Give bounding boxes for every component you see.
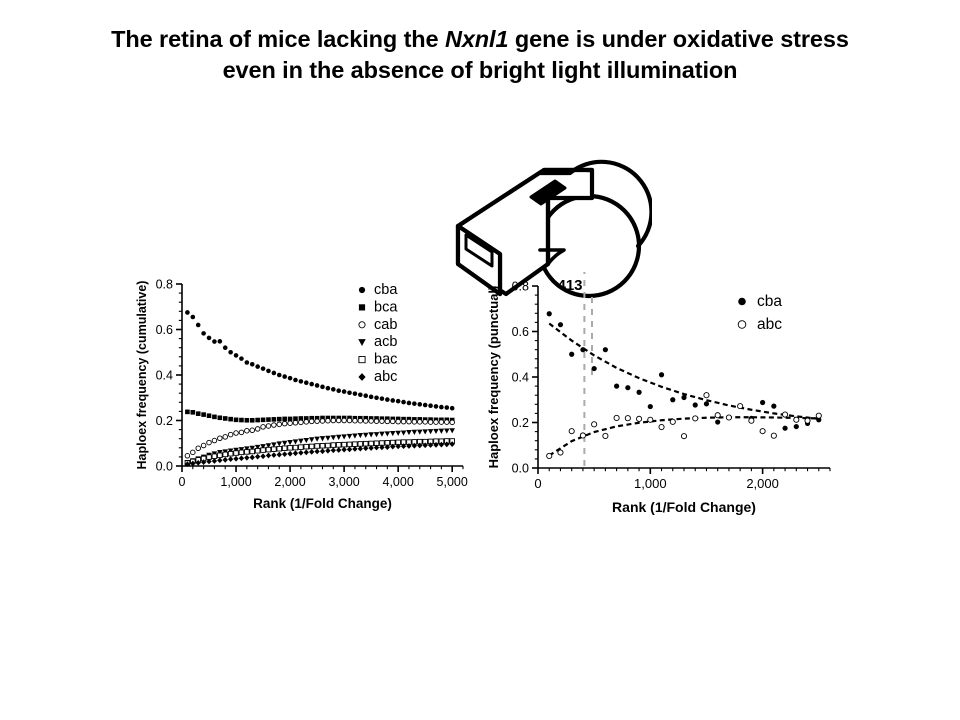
data-point [363,419,368,424]
data-point [217,457,222,463]
x-tick-label: 2,000 [746,476,779,491]
data-point [185,410,190,415]
data-point [380,396,385,401]
data-point [282,417,287,422]
data-point [299,420,304,425]
data-point [342,442,347,447]
data-point [401,400,406,405]
data-point [277,446,282,451]
y-tick-label: 0.4 [512,371,529,385]
data-point [320,448,325,454]
data-point [288,421,293,426]
y-tick-label: 0.0 [156,460,173,474]
data-point [228,456,233,462]
data-point [223,435,228,440]
y-tick-label: 0.0 [512,462,529,476]
data-point [233,456,238,462]
y-tick-label: 0.2 [156,414,173,428]
data-point [407,419,412,424]
data-point [726,415,731,420]
data-point [315,383,320,388]
y-tick-label: 0.8 [156,278,173,292]
data-point [191,450,196,455]
data-point [309,382,314,387]
data-point [266,424,271,429]
data-point [261,418,266,423]
data-point [693,402,698,407]
data-point [185,310,190,315]
data-point [309,437,315,442]
x-tick-label: 4,000 [383,475,414,489]
data-point [271,452,276,458]
data-point [369,441,374,446]
fit-curve-cba-fit [549,324,819,419]
data-point [569,352,574,357]
data-point [315,419,320,424]
data-point [428,429,434,434]
data-point [449,428,455,433]
data-point [353,391,358,396]
legend-marker [359,287,365,293]
data-point [805,418,810,423]
data-point [325,436,331,441]
data-point [234,418,239,423]
data-point [315,444,320,449]
data-point [277,373,282,378]
x-tick-label: 1,000 [220,475,251,489]
data-point [255,427,260,432]
data-point [261,366,266,371]
legend-label: abc [757,316,782,333]
data-point [266,369,271,374]
data-point [704,393,709,398]
data-point [434,404,439,409]
data-point [428,403,433,408]
data-point [212,339,217,344]
y-tick-label: 0.2 [512,416,529,430]
data-point [277,417,282,422]
data-point [369,395,374,400]
data-point [659,424,664,429]
data-point [369,419,374,424]
data-point [396,399,401,404]
title-line1-after: gene is under oxidative stress [508,26,848,52]
data-point [428,420,433,425]
data-point [309,449,314,455]
chart-cumulative: 0.00.20.40.60.801,0002,0003,0004,0005,00… [130,270,480,535]
data-point [347,418,352,423]
legend-label: acb [374,334,397,350]
data-point [320,385,325,390]
chart-cumulative-svg: 0.00.20.40.60.801,0002,0003,0004,0005,00… [130,270,480,535]
data-point [379,432,385,437]
data-point [266,453,271,459]
data-point [648,417,653,422]
legend-marker [738,321,746,329]
data-point [218,339,223,344]
data-point [342,418,347,423]
data-point [244,455,249,461]
data-point [287,451,292,457]
data-point [309,444,314,449]
data-point [715,413,720,418]
data-point [320,443,325,448]
data-point [272,371,277,376]
data-point [212,415,217,420]
data-point [406,430,412,435]
data-point [239,356,244,361]
data-point [326,386,331,391]
data-point [201,412,206,417]
data-point [282,374,287,379]
data-point [347,447,352,453]
legend-label: bca [374,299,398,315]
data-point [245,428,250,433]
data-point [272,423,277,428]
x-tick-label: 2,000 [274,475,305,489]
data-point [293,445,298,450]
data-point [417,420,422,425]
data-point [282,441,288,446]
x-axis-title: Rank (1/Fold Change) [253,496,392,511]
data-point [670,397,675,402]
data-point [558,450,563,455]
data-point [228,350,233,355]
data-point [314,449,319,455]
x-axis-title: Rank (1/Fold Change) [612,499,756,515]
data-point [380,419,385,424]
data-point [771,433,776,438]
data-point [207,336,212,341]
data-point [636,390,641,395]
data-point [385,397,390,402]
data-point [266,447,271,452]
legend-marker [359,357,365,363]
data-point [782,426,787,431]
data-point [547,311,552,316]
legend-marker [359,322,365,328]
data-point [331,435,337,440]
data-point [363,441,368,446]
data-point [260,453,265,459]
data-point [277,441,283,446]
data-point [439,420,444,425]
data-point [255,448,260,453]
x-tick-label: 0 [179,475,186,489]
data-point [320,436,326,441]
data-point [331,443,336,448]
data-point [433,429,439,434]
data-point [191,410,196,415]
data-point [580,347,585,352]
data-point [450,406,455,411]
data-point [368,432,374,437]
data-point [358,442,363,447]
data-point [212,458,217,464]
data-point [395,431,401,436]
data-point [336,435,342,440]
data-point [412,430,418,435]
data-point [314,437,320,442]
data-point [358,418,363,423]
data-point [412,420,417,425]
legend-label: cab [374,317,397,333]
data-point [342,389,347,394]
data-point [385,419,390,424]
data-point [715,419,720,424]
data-point [245,450,250,455]
data-point [201,443,206,448]
data-point [298,450,303,456]
data-point [245,418,250,423]
data-point [423,420,428,425]
data-point [648,404,653,409]
data-point [277,452,282,458]
legend-label: cba [374,282,398,298]
data-point [336,447,341,453]
data-point [223,416,228,421]
data-point [326,418,331,423]
data-point [341,447,346,453]
data-point [439,405,444,410]
data-point [407,401,412,406]
data-point [444,428,450,433]
data-point [218,453,223,458]
x-tick-label: 1,000 [634,476,667,491]
data-point [266,417,271,422]
data-point [218,415,223,420]
data-point [272,417,277,422]
data-point [250,418,255,423]
data-point [352,446,357,452]
data-point [293,450,298,456]
data-point [401,419,406,424]
data-point [347,434,353,439]
data-point [614,384,619,389]
data-point [282,451,287,457]
data-point [760,400,765,405]
data-point [794,417,799,422]
data-point [304,438,310,443]
data-point [353,418,358,423]
data-point [444,420,449,425]
data-point [196,323,201,328]
slide-canvas: The retina of mice lacking the Nxnl1 gen… [0,0,960,720]
data-point [558,322,563,327]
data-point [580,433,585,438]
data-point [228,432,233,437]
data-point [250,455,255,461]
data-point [239,455,244,461]
data-point [353,442,358,447]
data-point [450,420,455,425]
data-point [228,451,233,456]
data-point [434,420,439,425]
data-point [234,451,239,456]
series-abc [547,393,822,459]
data-point [336,418,341,423]
data-point [336,443,341,448]
data-point [670,419,675,424]
data-point [760,429,765,434]
legend-label: bac [374,352,397,368]
data-point [304,380,309,385]
chart-punctual: 0.00.20.40.60.801,0002,000Rank (1/Fold C… [480,272,850,537]
data-point [196,446,201,451]
y-tick-label: 0.6 [512,325,529,339]
data-point [207,440,212,445]
data-point [272,447,277,452]
data-point [299,379,304,384]
data-point [293,420,298,425]
data-point [191,315,196,320]
data-point [390,431,396,436]
data-point [282,421,287,426]
data-point [304,449,309,455]
data-point [228,417,233,422]
data-point [422,429,428,434]
y-tick-label: 0.6 [156,323,173,337]
data-point [390,419,395,424]
data-point [250,362,255,367]
data-point [185,453,190,458]
data-point [358,446,363,452]
data-point [261,425,266,430]
data-point [288,446,293,451]
data-point [304,444,309,449]
title-line1-before: The retina of mice lacking the [111,26,445,52]
data-point [603,347,608,352]
legend-marker [359,304,365,310]
data-point [309,419,314,424]
data-point [250,449,255,454]
x-tick-label: 0 [534,476,541,491]
data-point [299,445,304,450]
data-point [255,364,260,369]
title-line2: even in the absence of bright light illu… [223,57,738,83]
data-point [396,419,401,424]
data-point [423,403,428,408]
legend-label: abc [374,369,397,385]
data-point [347,390,352,395]
data-point [681,395,686,400]
data-point [374,395,379,400]
data-point [255,454,260,460]
legend-marker [358,373,365,381]
data-point [592,366,597,371]
data-point [341,434,347,439]
data-point [245,360,250,365]
data-point [239,418,244,423]
series-cba [185,310,454,410]
data-point [439,429,445,434]
data-point [336,388,341,393]
data-point [681,434,686,439]
y-tick-label: 0.8 [512,280,529,294]
data-point [625,416,630,421]
data-point [261,448,266,453]
data-point [331,447,336,453]
data-point [288,376,293,381]
data-point [325,448,330,454]
y-tick-label: 0.4 [156,369,173,383]
data-point [234,431,239,436]
data-point [201,331,206,336]
figure-area: 413 0.00.20.40.60.801,0002,0003,0004,000… [0,120,960,550]
data-point [614,415,619,420]
data-point [385,431,391,436]
data-point [358,392,363,397]
data-point [304,420,309,425]
data-point [331,387,336,392]
data-point [277,422,282,427]
data-point [196,411,201,416]
data-point [390,398,395,403]
data-point [374,432,380,437]
data-point [547,453,552,458]
data-point [320,419,325,424]
legend-label: cba [757,293,782,310]
data-point [326,443,331,448]
legend-marker [358,339,365,346]
data-point [794,424,799,429]
data-point [636,416,641,421]
data-point [239,430,244,435]
data-point [417,430,423,435]
data-point [282,446,287,451]
data-point [592,422,597,427]
data-point [223,345,228,350]
data-point [782,412,787,417]
data-point [293,439,299,444]
chart-punctual-svg: 0.00.20.40.60.801,0002,000Rank (1/Fold C… [480,272,850,537]
data-point [347,442,352,447]
data-point [218,436,223,441]
data-point [287,440,293,445]
y-axis-title: Haploex frequency (punctual) [486,286,501,469]
data-point [207,413,212,418]
data-point [234,353,239,358]
legend-marker [738,298,746,306]
data-point [625,385,630,390]
data-point [358,433,364,438]
data-point [212,438,217,443]
page-title: The retina of mice lacking the Nxnl1 gen… [30,24,930,86]
x-tick-label: 5,000 [437,475,468,489]
data-point [693,416,698,421]
data-point [293,378,298,383]
data-point [738,404,743,409]
data-point [749,418,754,423]
data-point [417,402,422,407]
data-point [704,401,709,406]
data-point [569,429,574,434]
data-point [401,430,407,435]
y-axis-title: Haploex frequency (cumulative) [135,281,149,470]
data-point [444,405,449,410]
data-point [212,454,217,459]
data-point [374,419,379,424]
data-point [239,450,244,455]
data-point [255,418,260,423]
data-point [363,433,369,438]
data-point [771,404,776,409]
data-point [352,433,358,438]
data-point [412,401,417,406]
data-point [223,457,228,463]
data-point [363,393,368,398]
data-point [331,418,336,423]
